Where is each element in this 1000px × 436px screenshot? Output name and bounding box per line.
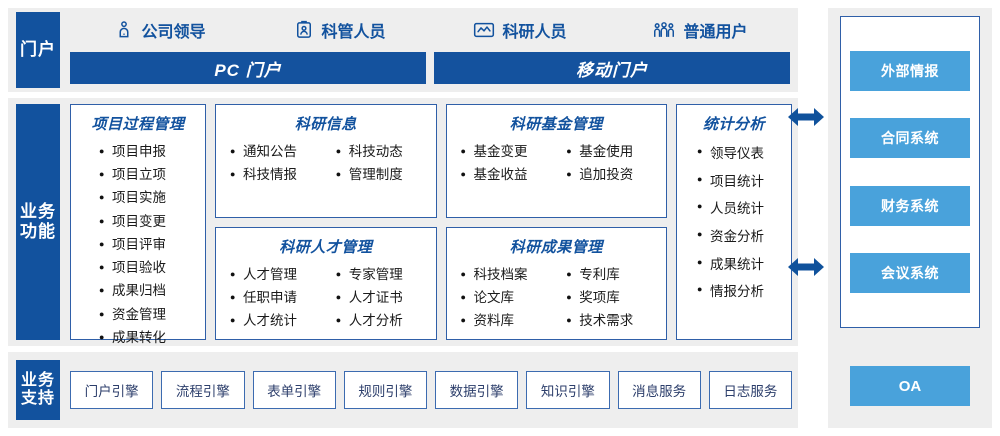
list-item[interactable]: 资金管理 bbox=[99, 303, 199, 326]
card-item-column: 基金使用 追加投资 bbox=[566, 140, 660, 186]
engine-button-data[interactable]: 数据引擎 bbox=[435, 371, 518, 409]
list-item[interactable]: 资金分析 bbox=[697, 223, 785, 251]
list-item[interactable]: 专利库 bbox=[566, 263, 660, 286]
business-support-tab-label: 业务支持 bbox=[16, 360, 60, 420]
list-item[interactable]: 项目申报 bbox=[99, 140, 199, 163]
external-system-finance[interactable]: 财务系统 bbox=[850, 186, 970, 226]
list-item[interactable]: 通知公告 bbox=[230, 140, 324, 163]
list-item[interactable]: 基金收益 bbox=[461, 163, 555, 186]
business-function-tab-label: 业务功能 bbox=[16, 104, 60, 340]
clipboard-badge-icon bbox=[294, 20, 314, 40]
engine-button-process[interactable]: 流程引擎 bbox=[161, 371, 244, 409]
card-item-column: 专家管理 人才证书 人才分析 bbox=[336, 263, 430, 333]
card-item-column: 专利库 奖项库 技术需求 bbox=[566, 263, 660, 333]
portal-buttons-row: PC 门户 移动门户 bbox=[70, 52, 790, 84]
bidirectional-arrow-icon-bottom bbox=[786, 254, 826, 280]
list-item[interactable]: 技术需求 bbox=[566, 309, 660, 332]
role-item-general-user[interactable]: 普通用户 bbox=[610, 18, 790, 42]
card-item-list: 领导仪表 项目统计 人员统计 资金分析 成果统计 情报分析 bbox=[683, 140, 785, 306]
portal-tab-label: 门户 bbox=[16, 12, 60, 88]
mobile-portal-button[interactable]: 移动门户 bbox=[434, 52, 790, 84]
engine-button-row: 门户引擎 流程引擎 表单引擎 规则引擎 数据引擎 知识引擎 消息服务 日志服务 bbox=[70, 363, 792, 417]
list-item[interactable]: 人才管理 bbox=[230, 263, 324, 286]
list-item[interactable]: 科技档案 bbox=[461, 263, 555, 286]
list-item[interactable]: 项目实施 bbox=[99, 186, 199, 209]
list-item[interactable]: 人才证书 bbox=[336, 286, 430, 309]
engine-button-message[interactable]: 消息服务 bbox=[618, 371, 701, 409]
external-system-intelligence[interactable]: 外部情报 bbox=[850, 51, 970, 91]
card-title: 科研成果管理 bbox=[510, 236, 603, 257]
list-item[interactable]: 人才统计 bbox=[230, 309, 324, 332]
list-item[interactable]: 专家管理 bbox=[336, 263, 430, 286]
card-title: 统计分析 bbox=[703, 113, 765, 134]
card-item-grid: 基金变更 基金收益 基金使用 追加投资 bbox=[453, 140, 661, 186]
chart-monitor-icon bbox=[473, 20, 495, 40]
list-item[interactable]: 成果归档 bbox=[99, 279, 199, 302]
card-research-achievement[interactable]: 科研成果管理 科技档案 论文库 资料库 专利库 奖项库 技术需求 bbox=[446, 227, 668, 341]
list-item[interactable]: 基金使用 bbox=[566, 140, 660, 163]
role-item-researcher[interactable]: 科研人员 bbox=[430, 18, 610, 42]
executive-person-icon bbox=[114, 20, 134, 40]
list-item[interactable]: 项目立项 bbox=[99, 163, 199, 186]
card-item-column: 通知公告 科技情报 bbox=[230, 140, 324, 186]
card-item-column: 科技动态 管理制度 bbox=[336, 140, 430, 186]
engine-button-knowledge[interactable]: 知识引擎 bbox=[526, 371, 609, 409]
card-item-grid: 通知公告 科技情报 科技动态 管理制度 bbox=[222, 140, 430, 186]
list-item[interactable]: 项目评审 bbox=[99, 233, 199, 256]
card-title: 科研基金管理 bbox=[510, 113, 603, 134]
external-system-meeting[interactable]: 会议系统 bbox=[850, 253, 970, 293]
engine-button-log[interactable]: 日志服务 bbox=[709, 371, 792, 409]
card-title: 项目过程管理 bbox=[91, 113, 184, 134]
list-item[interactable]: 基金变更 bbox=[461, 140, 555, 163]
user-group-icon bbox=[652, 20, 676, 40]
business-function-cards: 项目过程管理 项目申报 项目立项 项目实施 项目变更 项目评审 项目验收 成果归… bbox=[70, 104, 792, 340]
role-item-executive[interactable]: 公司领导 bbox=[70, 18, 250, 42]
card-row-bottom: 科研人才管理 人才管理 任职申请 人才统计 专家管理 人才证书 人才分析 bbox=[215, 227, 667, 341]
card-column-middle: 科研信息 通知公告 科技情报 科技动态 管理制度 科研基金管理 bbox=[215, 104, 667, 340]
list-item[interactable]: 论文库 bbox=[461, 286, 555, 309]
list-item[interactable]: 成果转化 bbox=[99, 326, 199, 349]
architecture-diagram: 门户 公司领导 bbox=[0, 0, 1000, 436]
card-item-grid: 人才管理 任职申请 人才统计 专家管理 人才证书 人才分析 bbox=[222, 263, 430, 333]
list-item[interactable]: 项目变更 bbox=[99, 210, 199, 233]
card-item-list: 项目申报 项目立项 项目实施 项目变更 项目评审 项目验收 成果归档 资金管理 … bbox=[77, 140, 199, 349]
list-item[interactable]: 奖项库 bbox=[566, 286, 660, 309]
list-item[interactable]: 管理制度 bbox=[336, 163, 430, 186]
list-item[interactable]: 成果统计 bbox=[697, 251, 785, 279]
role-item-research-admin[interactable]: 科管人员 bbox=[250, 18, 430, 42]
role-label: 科管人员 bbox=[321, 18, 385, 42]
list-item[interactable]: 任职申请 bbox=[230, 286, 324, 309]
card-row-top: 科研信息 通知公告 科技情报 科技动态 管理制度 科研基金管理 bbox=[215, 104, 667, 218]
list-item[interactable]: 项目统计 bbox=[697, 168, 785, 196]
portal-content: 公司领导 科管人员 bbox=[70, 12, 790, 88]
role-label: 科研人员 bbox=[502, 18, 566, 42]
external-system-oa[interactable]: OA bbox=[850, 366, 970, 406]
role-label: 普通用户 bbox=[683, 18, 747, 42]
external-systems-frame: 外部情报 合同系统 财务系统 会议系统 bbox=[840, 16, 980, 328]
external-system-contract[interactable]: 合同系统 bbox=[850, 118, 970, 158]
list-item[interactable]: 领导仪表 bbox=[697, 140, 785, 168]
engine-button-form[interactable]: 表单引擎 bbox=[253, 371, 336, 409]
pc-portal-button[interactable]: PC 门户 bbox=[70, 52, 426, 84]
card-project-process[interactable]: 项目过程管理 项目申报 项目立项 项目实施 项目变更 项目评审 项目验收 成果归… bbox=[70, 104, 206, 340]
list-item[interactable]: 资料库 bbox=[461, 309, 555, 332]
list-item[interactable]: 项目验收 bbox=[99, 256, 199, 279]
card-item-column: 基金变更 基金收益 bbox=[461, 140, 555, 186]
role-label: 公司领导 bbox=[141, 18, 205, 42]
card-statistics-analysis[interactable]: 统计分析 领导仪表 项目统计 人员统计 资金分析 成果统计 情报分析 bbox=[676, 104, 792, 340]
bidirectional-arrow-icon-top bbox=[786, 104, 826, 130]
list-item[interactable]: 人才分析 bbox=[336, 309, 430, 332]
card-research-talent[interactable]: 科研人才管理 人才管理 任职申请 人才统计 专家管理 人才证书 人才分析 bbox=[215, 227, 437, 341]
list-item[interactable]: 追加投资 bbox=[566, 163, 660, 186]
role-row: 公司领导 科管人员 bbox=[70, 12, 790, 48]
card-item-column: 科技档案 论文库 资料库 bbox=[461, 263, 555, 333]
list-item[interactable]: 科技动态 bbox=[336, 140, 430, 163]
card-item-grid: 科技档案 论文库 资料库 专利库 奖项库 技术需求 bbox=[453, 263, 661, 333]
card-title: 科研信息 bbox=[295, 113, 357, 134]
card-title: 科研人才管理 bbox=[279, 236, 372, 257]
card-item-column: 人才管理 任职申请 人才统计 bbox=[230, 263, 324, 333]
engine-button-portal[interactable]: 门户引擎 bbox=[70, 371, 153, 409]
list-item[interactable]: 科技情报 bbox=[230, 163, 324, 186]
engine-button-rule[interactable]: 规则引擎 bbox=[344, 371, 427, 409]
list-item[interactable]: 情报分析 bbox=[697, 278, 785, 306]
card-research-fund[interactable]: 科研基金管理 基金变更 基金收益 基金使用 追加投资 bbox=[446, 104, 668, 218]
card-research-info[interactable]: 科研信息 通知公告 科技情报 科技动态 管理制度 bbox=[215, 104, 437, 218]
list-item[interactable]: 人员统计 bbox=[697, 195, 785, 223]
